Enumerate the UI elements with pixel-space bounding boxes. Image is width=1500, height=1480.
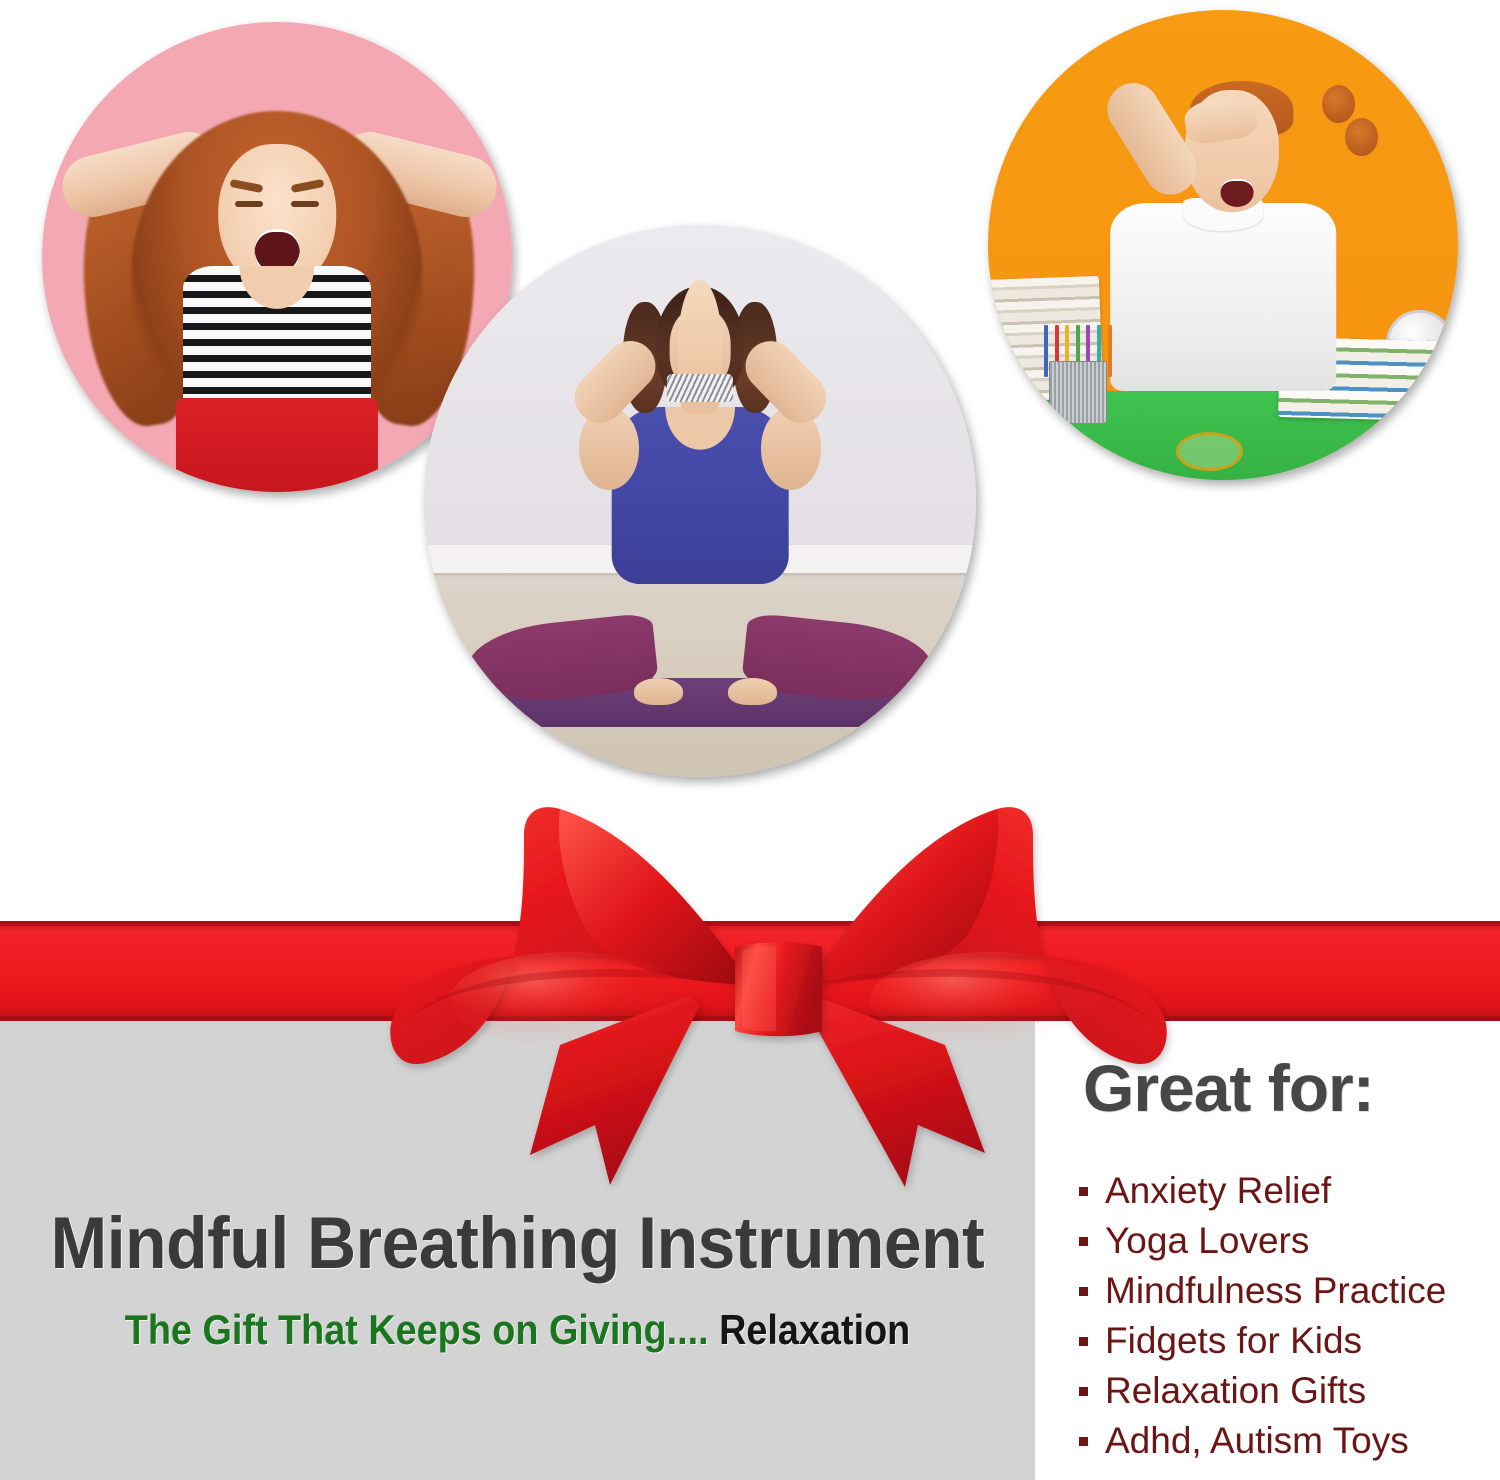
subtitle-black-text: Relaxation: [719, 1306, 910, 1353]
neckline: [664, 407, 736, 451]
photo-frustrated-schoolgirl: [988, 10, 1458, 480]
list-item: Anxiety Relief: [1075, 1166, 1500, 1216]
square-bullet-icon: [1079, 1187, 1088, 1196]
list-item: Yoga Lovers: [1075, 1216, 1500, 1266]
great-for-heading: Great for:: [1083, 1055, 1374, 1121]
list-item-label: Fidgets for Kids: [1105, 1320, 1362, 1361]
pencil-cup: [1049, 361, 1107, 424]
list-item-label: Adhd, Autism Toys: [1105, 1420, 1409, 1461]
great-for-section: Great for: Anxiety Relief Yoga Lovers Mi…: [1035, 1021, 1500, 1480]
page-title: Mindful Breathing Instrument: [36, 1207, 999, 1280]
eye-right: [291, 201, 319, 207]
eye-left: [235, 201, 263, 207]
bow-loop-right-fold: [812, 809, 998, 985]
open-mouth: [1221, 179, 1254, 207]
neckline: [239, 266, 314, 308]
product-title-panel: Mindful Breathing Instrument The Gift Th…: [0, 1021, 1035, 1480]
square-bullet-icon: [1079, 1237, 1088, 1246]
list-item-label: Anxiety Relief: [1105, 1170, 1331, 1211]
list-item-label: Relaxation Gifts: [1105, 1370, 1366, 1411]
square-bullet-icon: [1079, 1337, 1088, 1346]
great-for-list: Anxiety Relief Yoga Lovers Mindfulness P…: [1075, 1166, 1500, 1466]
hair-bun-lower: [1345, 118, 1378, 156]
yoga-image: [424, 225, 976, 777]
square-bullet-icon: [1079, 1387, 1088, 1396]
hair-bun-upper: [1322, 85, 1355, 123]
schoolgirl-image: [988, 10, 1458, 480]
ribbon-band: [0, 921, 1500, 1021]
magnifier-icon: [1176, 432, 1243, 471]
bow-loop-left-fold: [559, 809, 745, 985]
foot-right: [728, 678, 778, 706]
wrist-bangles: [667, 374, 733, 402]
list-item: Mindfulness Practice: [1075, 1266, 1500, 1316]
red-skirt: [176, 398, 378, 492]
list-item: Fidgets for Kids: [1075, 1316, 1500, 1366]
product-subtitle: The Gift That Keeps on Giving.... Relaxa…: [52, 1309, 984, 1351]
list-item: Relaxation Gifts: [1075, 1366, 1500, 1416]
photo-collage: [0, 0, 1500, 800]
list-item: Adhd, Autism Toys: [1075, 1416, 1500, 1466]
square-bullet-icon: [1079, 1437, 1088, 1446]
list-item-label: Yoga Lovers: [1105, 1220, 1309, 1261]
square-bullet-icon: [1079, 1287, 1088, 1296]
subtitle-green-text: The Gift That Keeps on Giving....: [125, 1306, 719, 1353]
list-item-label: Mindfulness Practice: [1105, 1270, 1446, 1311]
foot-left: [634, 678, 684, 706]
product-infographic: Mindful Breathing Instrument The Gift Th…: [0, 0, 1500, 1480]
photo-woman-meditating: [424, 225, 976, 777]
